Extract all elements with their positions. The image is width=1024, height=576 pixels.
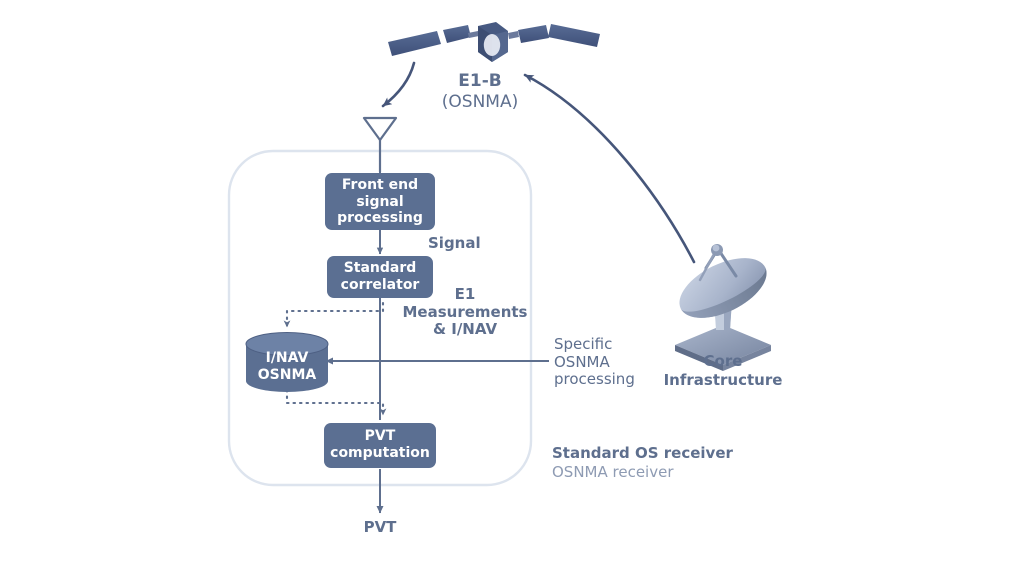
signal-label-e1b: E1-B [400,71,560,91]
receiver-caption-standard-os: Standard OS receiver [552,445,792,463]
diagram-canvas: E1-B (OSNMA) Front end signal processing… [0,0,1024,576]
block-front-end[interactable] [325,173,435,230]
inav-osnma-datastore [246,333,328,392]
satellite-icon [388,22,600,62]
flow-correlator-to-store-dotted [287,303,383,327]
flow-label-e1-measurements: E1 Measurements & I/NAV [390,286,540,339]
core-infrastructure-label-line1: Core [643,353,803,371]
receiver-caption-osnma: OSNMA receiver [552,464,792,482]
core-infrastructure-label-line2: Infrastructure [643,372,803,390]
block-pvt-computation[interactable] [324,423,436,468]
antenna-icon [364,118,396,172]
flow-label-signal: Signal [428,235,548,253]
output-label-pvt: PVT [330,519,430,537]
signal-label-osnma: (OSNMA) [400,92,560,112]
flow-store-to-pvt-dotted [287,390,383,415]
